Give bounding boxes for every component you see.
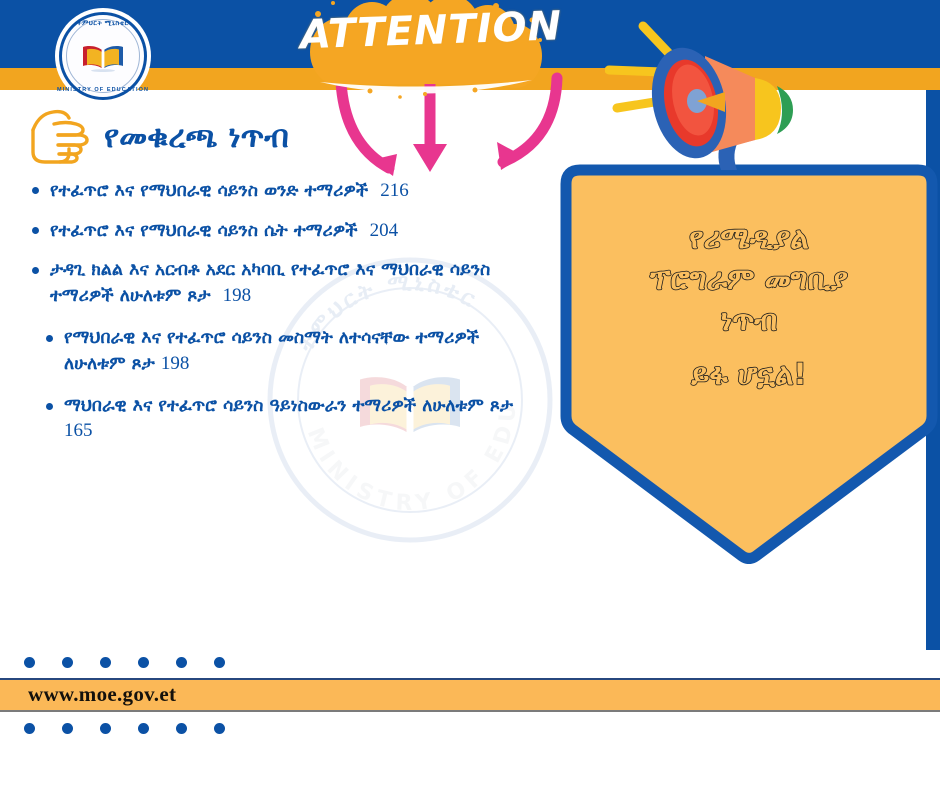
- footer-dot: [24, 657, 35, 668]
- ministry-seal: ትምህርት ሚኒስቴር MINISTRY OF EDUCATION: [55, 8, 151, 104]
- poster-canvas: ትምህርት ሚኒስቴር MINISTRY OF EDUCATION: [0, 0, 940, 788]
- footer-dot: [62, 723, 73, 734]
- footer-dot: [100, 657, 111, 668]
- announcement-shield: የሪሜዲያል ፕሮግራም መግቢያ ነጥብ ይፋ ሆኗል!: [556, 160, 940, 564]
- open-book-icon: [79, 42, 127, 72]
- page-title-text: የመቁረጫ ነጥብ: [104, 120, 289, 154]
- footer-dot: [24, 723, 35, 734]
- seal-label-amharic: ትምህርት ሚኒስቴር: [55, 20, 151, 28]
- megaphone-icon: [605, 8, 855, 183]
- bullet-dot: [32, 187, 39, 194]
- footer-dot: [62, 657, 73, 668]
- bullet-dot: [46, 335, 53, 342]
- bullet-dot: [32, 267, 39, 274]
- footer-dot: [176, 657, 187, 668]
- bullet-dot: [32, 227, 39, 234]
- footer-dot: [138, 657, 149, 668]
- list-item-text: የተፈጥሮ እና የማህበራዊ ሳይንስ ሴት ተማሪዎች 204: [50, 218, 398, 245]
- footer-dot: [100, 723, 111, 734]
- pointing-hand-icon: [28, 108, 94, 166]
- seal-label-english: MINISTRY OF EDUCATION: [55, 87, 151, 93]
- footer-dot: [214, 657, 225, 668]
- shield-message: የሪሜዲያል ፕሮግራም መግቢያ ነጥብ ይፋ ሆኗል!: [556, 218, 940, 395]
- website-url[interactable]: www.moe.gov.et: [28, 682, 176, 707]
- list-item: የማህበራዊ እና የተፈጥሮ ሳይንስ መስማት ለተሳናቸው ተማሪዎች ለ…: [38, 326, 544, 378]
- attention-label: ATTENTION: [299, 4, 550, 59]
- list-item-text: ታዳጊ ክልል እና አርብቶ አደር አካባቢ የተፈጥሮ እና ማህበራዊ …: [50, 258, 544, 310]
- footer-dot: [176, 723, 187, 734]
- footer-dot: [138, 723, 149, 734]
- footer-dots-bottom: [24, 723, 344, 735]
- list-item-text: ማህበራዊ እና የተፈጥሮ ሳይንስ ዓይነስውራን ተማሪዎች ለሁለቱም …: [64, 394, 544, 446]
- list-item: ማህበራዊ እና የተፈጥሮ ሳይንስ ዓይነስውራን ተማሪዎች ለሁለቱም …: [38, 394, 544, 446]
- page-title: የመቁረጫ ነጥብ: [28, 108, 289, 166]
- shield-line: ይፋ ሆኗል!: [556, 354, 940, 395]
- shield-line: ፕሮግራም መግቢያ: [556, 259, 940, 300]
- bullet-dot: [46, 403, 53, 410]
- footer-dots-top: [24, 657, 344, 669]
- attention-badge: ATTENTION: [300, 0, 550, 102]
- cutoff-points-list: የተፈጥሮ እና የማህበራዊ ሳይንስ ወንድ ተማሪዎች 216 የተፈጥሮ…: [24, 178, 544, 458]
- list-item: የተፈጥሮ እና የማህበራዊ ሳይንስ ሴት ተማሪዎች 204: [24, 218, 544, 245]
- shield-line: የሪሜዲያል: [556, 218, 940, 259]
- shield-line: ነጥብ: [556, 300, 940, 341]
- footer-dot: [214, 723, 225, 734]
- list-item: ታዳጊ ክልል እና አርብቶ አደር አካባቢ የተፈጥሮ እና ማህበራዊ …: [24, 258, 544, 310]
- list-item-text: የማህበራዊ እና የተፈጥሮ ሳይንስ መስማት ለተሳናቸው ተማሪዎች ለ…: [64, 326, 544, 378]
